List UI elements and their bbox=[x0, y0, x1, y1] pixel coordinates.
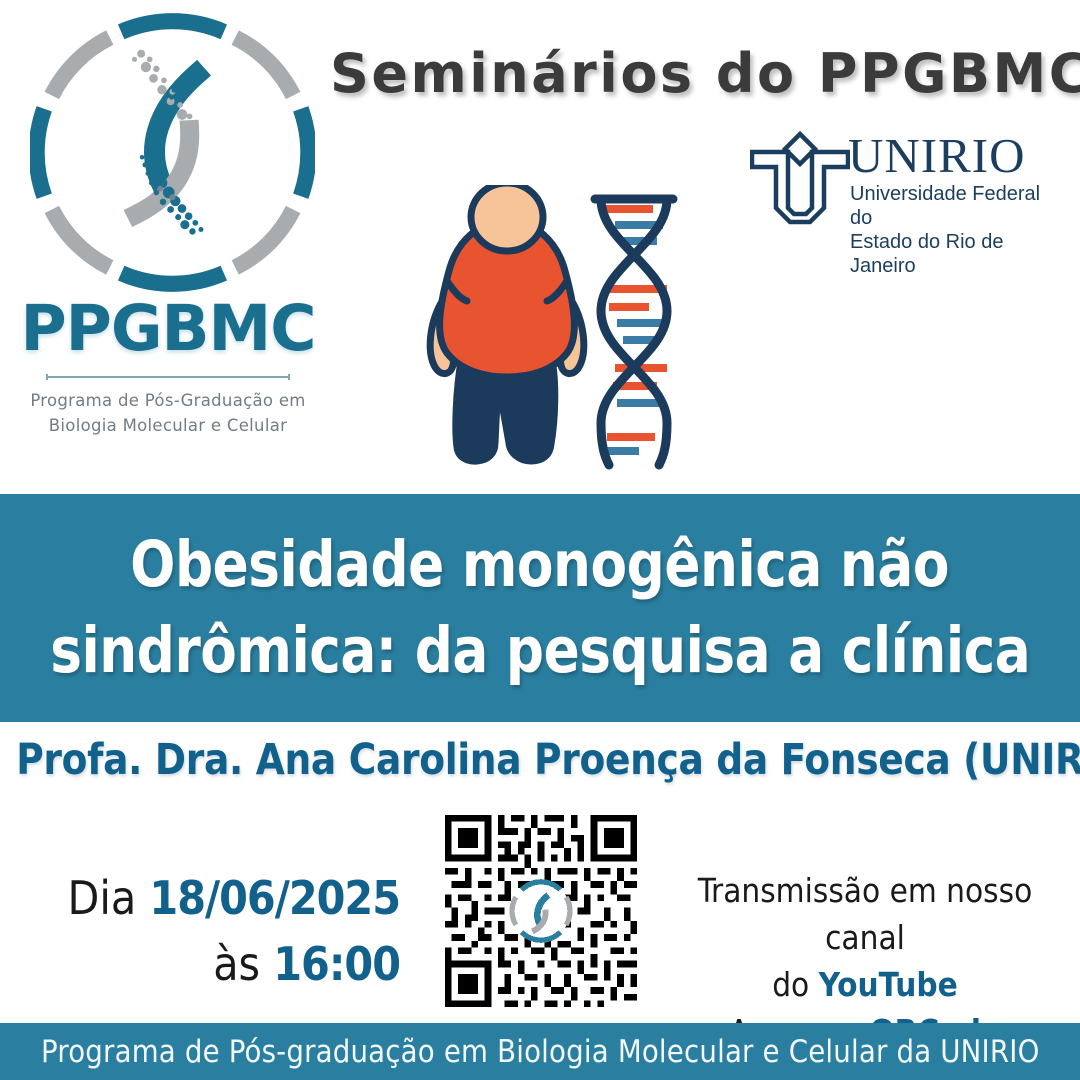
footer-text: Programa de Pós-graduação em Biologia Mo… bbox=[41, 1034, 1039, 1070]
streaming-line2: do YouTube bbox=[660, 961, 1070, 1008]
youtube-label: YouTube bbox=[819, 965, 958, 1004]
ppgbmc-subtitle-line1: Programa de Pós-Graduação em bbox=[8, 388, 328, 413]
speaker-name: Profa. Dra. Ana Carolina Proença da Fons… bbox=[16, 735, 1064, 785]
unirio-figure-icon bbox=[750, 130, 850, 228]
unirio-wordmark: UNIRIO bbox=[848, 130, 1025, 182]
streaming-line1: Transmissão em nosso canal bbox=[660, 867, 1070, 961]
ppgbmc-logo: PPGBMC Programa de Pós-Graduação em Biol… bbox=[8, 4, 328, 444]
logo-divider bbox=[46, 376, 290, 378]
event-time-line: às 16:00 bbox=[30, 931, 400, 997]
event-date-value: 18/06/2025 bbox=[149, 871, 400, 925]
ppgbmc-subtitle-line2: Biologia Molecular e Celular bbox=[8, 413, 328, 438]
event-date-line: Dia 18/06/2025 bbox=[30, 865, 400, 931]
unirio-subtitle-line1: Universidade Federal do bbox=[850, 182, 1050, 230]
ppgbmc-dna-circle-icon bbox=[30, 10, 315, 295]
event-datetime: Dia 18/06/2025 às 16:00 bbox=[30, 865, 400, 997]
ppgbmc-wordmark: PPGBMC bbox=[8, 292, 328, 365]
time-prefix-label: às bbox=[213, 937, 260, 991]
unirio-subtitle: Universidade Federal do Estado do Rio de… bbox=[850, 182, 1050, 278]
unirio-logo: UNIRIO Universidade Federal do Estado do… bbox=[750, 130, 1050, 230]
obese-person-with-dna-helix-illustration bbox=[405, 185, 695, 480]
ppgbmc-subtitle: Programa de Pós-Graduação em Biologia Mo… bbox=[8, 388, 328, 438]
seminar-title-band: Obesidade monogênica não sindrômica: da … bbox=[0, 494, 1080, 722]
poster-footer: Programa de Pós-graduação em Biologia Mo… bbox=[0, 1023, 1080, 1080]
date-prefix-label: Dia bbox=[68, 871, 137, 925]
unirio-subtitle-line2: Estado do Rio de Janeiro bbox=[850, 230, 1050, 278]
qr-code[interactable] bbox=[444, 815, 638, 1007]
event-info-row: Dia 18/06/2025 às 16:00 bbox=[0, 805, 1080, 1023]
streaming-line2-prefix: do bbox=[772, 965, 809, 1004]
page-title: Seminários do PPGBMC bbox=[330, 42, 1070, 105]
poster-top-section: PPGBMC Programa de Pós-Graduação em Biol… bbox=[0, 0, 1080, 494]
event-time-value: 16:00 bbox=[273, 937, 400, 991]
seminar-title-line1: Obesidade monogênica não bbox=[131, 522, 950, 608]
seminar-title-line2: sindrômica: da pesquisa a clínica bbox=[50, 608, 1030, 694]
